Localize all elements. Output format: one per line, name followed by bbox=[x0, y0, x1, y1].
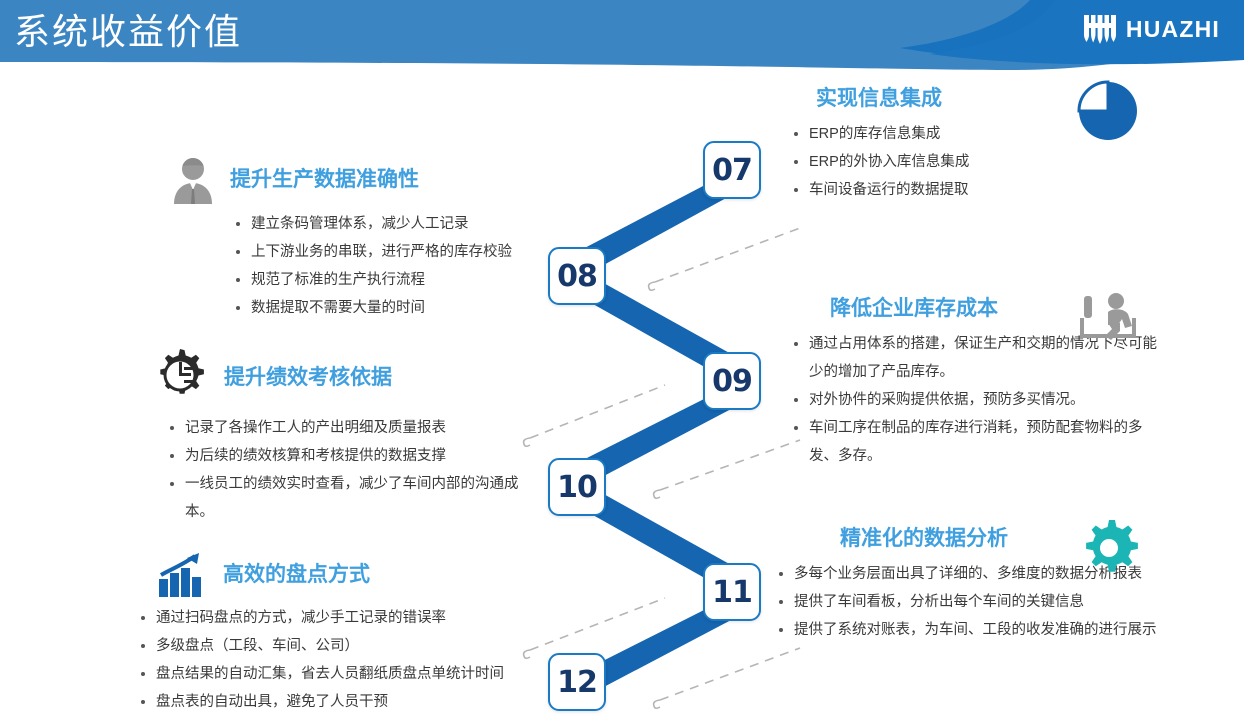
list-item: 车间设备运行的数据提取 bbox=[790, 176, 1210, 204]
list-item: 多每个业务层面出具了详细的、多维度的数据分析报表 bbox=[775, 560, 1235, 588]
dash-connector-07 bbox=[655, 228, 800, 282]
block-title: 降低企业库存成本 bbox=[830, 294, 998, 324]
block-info-integration: 实现信息集成 ERP的库存信息集成 ERP的外协入库信息集成 车间设备运行的数据… bbox=[790, 84, 1210, 204]
block-performance-review: 提升绩效考核依据 记录了各操作工人的产出明细及质量报表 为后续的绩效核算和考核提… bbox=[150, 348, 550, 526]
gear-icon bbox=[1078, 518, 1140, 578]
list-item: 规范了标准的生产执行流程 bbox=[232, 266, 550, 294]
bullet-list: 建立条码管理体系，减少人工记录 上下游业务的串联，进行严格的库存校验 规范了标准… bbox=[232, 210, 550, 322]
block-header: 提升绩效考核依据 bbox=[150, 348, 550, 408]
step-box-09[interactable]: 09 bbox=[703, 352, 761, 410]
block-title: 精准化的数据分析 bbox=[840, 524, 1008, 554]
worker-desk-icon bbox=[1078, 292, 1140, 348]
block-stocktaking: 高效的盘点方式 通过扫码盘点的方式，减少手工记录的错误率 多级盘点（工段、车间、… bbox=[155, 552, 555, 716]
block-title: 提升生产数据准确性 bbox=[230, 165, 419, 195]
block-header: 实现信息集成 bbox=[790, 84, 1210, 114]
list-item: 车间工序在制品的库存进行消耗，预防配套物料的多发、多存。 bbox=[790, 414, 1162, 470]
list-item: 记录了各操作工人的产出明细及质量报表 bbox=[166, 414, 526, 442]
brand-logo: HUAZHI bbox=[1083, 14, 1220, 44]
step-box-11[interactable]: 11 bbox=[703, 563, 761, 621]
list-item: 数据提取不需要大量的时间 bbox=[232, 294, 550, 322]
step-box-12[interactable]: 12 bbox=[548, 653, 606, 711]
block-header: 降低企业库存成本 bbox=[790, 294, 1210, 324]
block-title: 提升绩效考核依据 bbox=[224, 363, 392, 393]
gear-clock-icon bbox=[150, 348, 210, 408]
list-item: 上下游业务的串联，进行严格的库存校验 bbox=[232, 238, 550, 266]
block-header: 精准化的数据分析 bbox=[775, 524, 1235, 554]
list-item: 建立条码管理体系，减少人工记录 bbox=[232, 210, 550, 238]
block-production-data-accuracy: 提升生产数据准确性 建立条码管理体系，减少人工记录 上下游业务的串联，进行严格的… bbox=[170, 156, 550, 322]
block-header: 高效的盘点方式 bbox=[155, 552, 555, 598]
list-item: ERP的外协入库信息集成 bbox=[790, 148, 1210, 176]
list-item: 一线员工的绩效实时查看，减少了车间内部的沟通成本。 bbox=[166, 470, 526, 526]
list-item: 盘点结果的自动汇集，省去人员翻纸质盘点单统计时间 bbox=[137, 660, 555, 688]
block-header: 提升生产数据准确性 bbox=[170, 156, 550, 204]
list-item: 盘点表的自动出具，避免了人员干预 bbox=[137, 688, 555, 716]
dash-connector-09 bbox=[660, 440, 800, 490]
block-inventory-cost: 降低企业库存成本 通过占用体系的搭建，保证生产和交期的情况下尽可能少的增加了产品… bbox=[790, 294, 1210, 470]
page-title: 系统收益价值 bbox=[14, 6, 242, 58]
list-item: ERP的库存信息集成 bbox=[790, 120, 1210, 148]
dash-connector-08 bbox=[530, 385, 665, 438]
bullet-list: 记录了各操作工人的产出明细及质量报表 为后续的绩效核算和考核提供的数据支撑 一线… bbox=[166, 414, 526, 526]
list-item: 提供了车间看板，分析出每个车间的关键信息 bbox=[775, 588, 1235, 616]
step-box-10[interactable]: 10 bbox=[548, 458, 606, 516]
bullet-list: 多每个业务层面出具了详细的、多维度的数据分析报表 提供了车间看板，分析出每个车间… bbox=[775, 560, 1235, 644]
list-item: 提供了系统对账表，为车间、工段的收发准确的进行展示 bbox=[775, 616, 1235, 644]
block-title: 高效的盘点方式 bbox=[223, 560, 370, 590]
step-box-07[interactable]: 07 bbox=[703, 141, 761, 199]
list-item: 多级盘点（工段、车间、公司） bbox=[137, 632, 555, 660]
list-item: 为后续的绩效核算和考核提供的数据支撑 bbox=[166, 442, 526, 470]
dash-connector-11 bbox=[660, 648, 800, 700]
bullet-list: 通过占用体系的搭建，保证生产和交期的情况下尽可能少的增加了产品库存。 对外协件的… bbox=[790, 330, 1162, 470]
pie-chart-icon bbox=[1075, 80, 1145, 142]
slide-root: 系统收益价值 HUAZHI bbox=[0, 0, 1244, 728]
bar-chart-arrow-icon bbox=[155, 552, 209, 598]
huazhi-logo-mark-icon bbox=[1083, 14, 1117, 44]
block-data-analysis: 精准化的数据分析 多每个业务层面出具了详细的、多维度的数据分析报表 提供了车间看… bbox=[775, 524, 1235, 644]
step-box-08[interactable]: 08 bbox=[548, 247, 606, 305]
bullet-list: ERP的库存信息集成 ERP的外协入库信息集成 车间设备运行的数据提取 bbox=[790, 120, 1210, 204]
slide-header: 系统收益价值 HUAZHI bbox=[0, 0, 1244, 70]
bullet-list: 通过扫码盘点的方式，减少手工记录的错误率 多级盘点（工段、车间、公司） 盘点结果… bbox=[137, 604, 555, 716]
list-item: 通过扫码盘点的方式，减少手工记录的错误率 bbox=[137, 604, 555, 632]
list-item: 对外协件的采购提供依据，预防多买情况。 bbox=[790, 386, 1162, 414]
person-avatar-icon bbox=[170, 156, 216, 204]
brand-name: HUAZHI bbox=[1126, 15, 1220, 43]
block-title: 实现信息集成 bbox=[816, 84, 942, 114]
